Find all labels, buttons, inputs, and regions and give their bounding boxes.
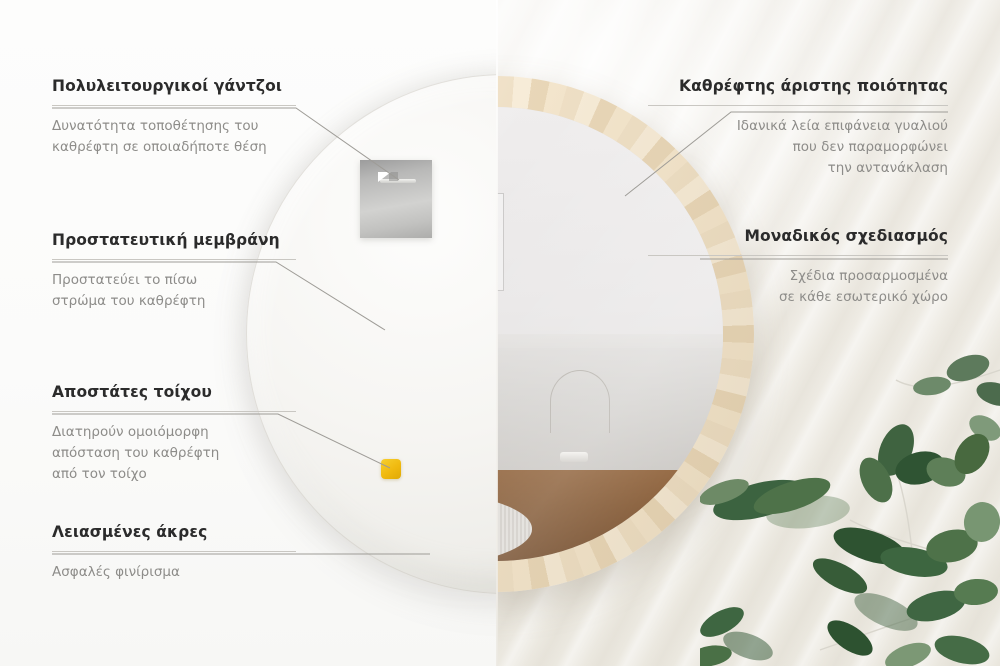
callout-design-desc: Σχέδια προσαρμοσμένα σε κάθε εσωτερικό χ… <box>648 266 948 308</box>
panel-divider <box>496 0 498 666</box>
callout-rule <box>52 105 296 106</box>
callout-unique-design: Μοναδικός σχεδιασμός Σχέδια προσαρμοσμέν… <box>648 226 948 308</box>
callout-rule <box>648 255 948 256</box>
foliage-decoration <box>700 350 1000 666</box>
callout-edges-desc: Ασφαλές φινίρισμα <box>52 562 296 583</box>
callout-edges-title: Λειασμένες άκρες <box>52 522 296 542</box>
callout-hooks-title: Πολυλειτουργικοί γάντζοι <box>52 76 296 96</box>
callout-protective-membrane: Προστατευτική μεμβράνη Προστατεύει το πί… <box>52 230 296 312</box>
hook-icon <box>378 172 418 185</box>
callout-spacers-title: Αποστάτες τοίχου <box>52 382 296 402</box>
callout-top-quality-mirror: Καθρέφτης άριστης ποιότητας Ιδανικά λεία… <box>648 76 948 179</box>
callout-hooks-desc: Δυνατότητα τοποθέτησης του καθρέφτη σε ο… <box>52 116 296 158</box>
callout-rule <box>52 551 296 552</box>
callout-wall-spacers: Αποστάτες τοίχου Διατηρούν ομοιόμορφη απ… <box>52 382 296 485</box>
callout-quality-desc: Ιδανικά λεία επιφάνεια γυαλιού που δεν π… <box>648 116 948 179</box>
wall-spacer-detail <box>381 459 401 479</box>
callout-membrane-desc: Προστατεύει το πίσω στρώμα του καθρέφτη <box>52 270 296 312</box>
callout-smoothed-edges: Λειασμένες άκρες Ασφαλές φινίρισμα <box>52 522 296 583</box>
callout-rule <box>648 105 948 106</box>
infographic-canvas: Πολυλειτουργικοί γάντζοι Δυνατότητα τοπο… <box>0 0 1000 666</box>
callout-design-title: Μοναδικός σχεδιασμός <box>648 226 948 246</box>
callout-spacers-desc: Διατηρούν ομοιόμορφη απόσταση του καθρέφ… <box>52 422 296 485</box>
callout-membrane-title: Προστατευτική μεμβράνη <box>52 230 296 250</box>
callout-rule <box>52 411 296 412</box>
callout-quality-title: Καθρέφτης άριστης ποιότητας <box>648 76 948 96</box>
callout-rule <box>52 259 296 260</box>
callout-hooks: Πολυλειτουργικοί γάντζοι Δυνατότητα τοπο… <box>52 76 296 158</box>
